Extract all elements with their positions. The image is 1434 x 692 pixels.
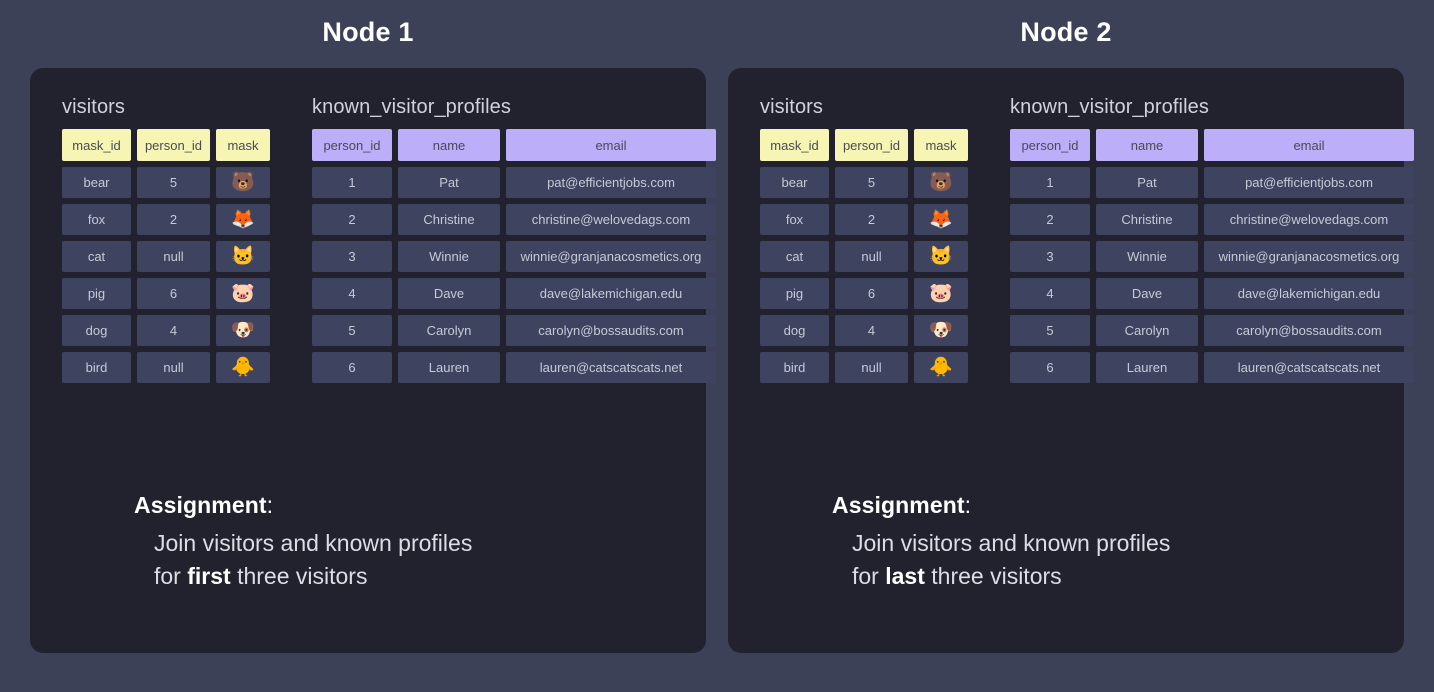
assignment-line2-before: for [154,563,187,589]
cell-email: dave@lakemichigan.edu [506,278,716,309]
cell-person-id: 4 [835,315,908,346]
assignment-line-1: Join visitors and known profiles [852,527,1170,560]
column-header-email: email [1204,129,1414,161]
assignment-line2-before: for [852,563,885,589]
pig-icon: 🐷 [216,278,270,309]
cell-name: Carolyn [1096,315,1198,346]
table-caption: visitors [62,96,270,119]
cell-name: Pat [1096,167,1198,198]
table-row: cat null 🐱 [760,241,968,272]
table-caption: visitors [760,96,968,119]
assignment-line-2: for last three visitors [852,560,1170,593]
table-row: fox 2 🦊 [62,204,270,235]
cell-person-id: 3 [1010,241,1090,272]
profiles-table-block: known_visitor_profiles person_id name em… [1010,96,1414,383]
cell-mask-id: dog [62,315,131,346]
table-caption: known_visitor_profiles [312,96,716,119]
cell-mask-id: bear [62,167,131,198]
cell-email: carolyn@bossaudits.com [1204,315,1414,346]
cell-email: christine@welovedags.com [1204,204,1414,235]
cell-name: Pat [398,167,500,198]
cell-mask-id: fox [760,204,829,235]
table-row: pig 6 🐷 [760,278,968,309]
column-header-person-id: person_id [137,129,210,161]
column-header-name: name [398,129,500,161]
cell-person-id: 6 [312,352,392,383]
cell-person-id: 5 [137,167,210,198]
visitors-table-block: visitors mask_id person_id mask bear 5 🐻 [62,96,270,383]
cell-name: Christine [1096,204,1198,235]
table-row: dog 4 🐶 [760,315,968,346]
cell-person-id: 1 [1010,167,1090,198]
cell-person-id: 2 [835,204,908,235]
table-caption: known_visitor_profiles [1010,96,1414,119]
assignment-line-2: for first three visitors [154,560,472,593]
column-header-mask: mask [914,129,968,161]
cell-email: christine@welovedags.com [506,204,716,235]
cell-name: Dave [398,278,500,309]
assignment-line-1: Join visitors and known profiles [154,527,472,560]
table-row: pig 6 🐷 [62,278,270,309]
cell-email: pat@efficientjobs.com [506,167,716,198]
cell-mask-id: bear [760,167,829,198]
table-header-row: mask_id person_id mask [62,129,270,161]
table-row: 1 Pat pat@efficientjobs.com [312,167,716,198]
cell-mask-id: cat [62,241,131,272]
profiles-table-block: known_visitor_profiles person_id name em… [312,96,716,383]
table-row: 5 Carolyn carolyn@bossaudits.com [1010,315,1414,346]
cell-person-id: 2 [312,204,392,235]
node-title: Node 1 [30,0,706,68]
cell-person-id: 4 [137,315,210,346]
cell-email: lauren@catscatscats.net [506,352,716,383]
cell-mask-id: pig [62,278,131,309]
column-header-email: email [506,129,716,161]
cell-person-id: 6 [835,278,908,309]
cell-person-id: 1 [312,167,392,198]
cell-name: Carolyn [398,315,500,346]
column-header-mask-id: mask_id [760,129,829,161]
cell-name: Winnie [398,241,500,272]
cell-person-id: 6 [137,278,210,309]
cell-person-id: 5 [312,315,392,346]
bird-icon: 🐥 [914,352,968,383]
table-row: bear 5 🐻 [760,167,968,198]
cell-name: Lauren [1096,352,1198,383]
node-column-2: Node 2 visitors mask_id person_id mask b… [728,0,1404,692]
assignment-label-text: Assignment [832,492,965,518]
cell-mask-id: fox [62,204,131,235]
cell-name: Winnie [1096,241,1198,272]
cell-email: dave@lakemichigan.edu [1204,278,1414,309]
assignment-lines: Join visitors and known profiles for fir… [154,527,472,594]
node-panel: visitors mask_id person_id mask bear 5 🐻 [728,68,1404,653]
column-header-person-id: person_id [835,129,908,161]
fox-icon: 🦊 [914,204,968,235]
cell-email: pat@efficientjobs.com [1204,167,1414,198]
cell-mask-id: pig [760,278,829,309]
node-column-1: Node 1 visitors mask_id person_id mask b… [30,0,706,692]
cell-person-id: 6 [1010,352,1090,383]
table-row: 6 Lauren lauren@catscatscats.net [1010,352,1414,383]
assignment-block: Assignment: Join visitors and known prof… [832,492,1170,594]
cell-person-id: 4 [1010,278,1090,309]
cell-mask-id: dog [760,315,829,346]
bird-icon: 🐥 [216,352,270,383]
diagram-stage: Node 1 visitors mask_id person_id mask b… [0,0,1434,692]
bear-icon: 🐻 [216,167,270,198]
cell-person-id: 2 [1010,204,1090,235]
assignment-label: Assignment: [832,492,1170,519]
fox-icon: 🦊 [216,204,270,235]
profiles-grid: person_id name email 1 Pat pat@efficient… [1010,129,1414,383]
visitors-table-block: visitors mask_id person_id mask bear 5 🐻 [760,96,968,383]
column-header-mask-id: mask_id [62,129,131,161]
dog-icon: 🐶 [914,315,968,346]
cell-email: winnie@granjanacosmetics.org [1204,241,1414,272]
cell-mask-id: bird [62,352,131,383]
tables-row: visitors mask_id person_id mask bear 5 🐻 [62,96,690,383]
assignment-emphasis: last [885,563,925,589]
table-header-row: person_id name email [1010,129,1414,161]
dog-icon: 🐶 [216,315,270,346]
assignment-emphasis: first [187,563,230,589]
assignment-label: Assignment: [134,492,472,519]
cat-icon: 🐱 [216,241,270,272]
table-header-row: mask_id person_id mask [760,129,968,161]
column-header-person-id: person_id [312,129,392,161]
cell-name: Dave [1096,278,1198,309]
cell-person-id: 5 [835,167,908,198]
table-row: 4 Dave dave@lakemichigan.edu [1010,278,1414,309]
bear-icon: 🐻 [914,167,968,198]
cell-mask-id: bird [760,352,829,383]
table-row: 6 Lauren lauren@catscatscats.net [312,352,716,383]
cell-person-id: null [137,352,210,383]
assignment-line2-after: three visitors [925,563,1062,589]
cell-name: Christine [398,204,500,235]
cell-person-id: 2 [137,204,210,235]
visitors-grid: mask_id person_id mask bear 5 🐻 fox 2 [760,129,968,383]
cell-person-id: 4 [312,278,392,309]
node-title: Node 2 [728,0,1404,68]
node-panel: visitors mask_id person_id mask bear 5 🐻 [30,68,706,653]
cell-mask-id: cat [760,241,829,272]
table-row: cat null 🐱 [62,241,270,272]
table-row: 3 Winnie winnie@granjanacosmetics.org [1010,241,1414,272]
table-row: bear 5 🐻 [62,167,270,198]
column-header-person-id: person_id [1010,129,1090,161]
cell-person-id: 3 [312,241,392,272]
pig-icon: 🐷 [914,278,968,309]
column-header-name: name [1096,129,1198,161]
table-row: dog 4 🐶 [62,315,270,346]
cell-email: winnie@granjanacosmetics.org [506,241,716,272]
cell-email: carolyn@bossaudits.com [506,315,716,346]
table-row: 1 Pat pat@efficientjobs.com [1010,167,1414,198]
table-row: fox 2 🦊 [760,204,968,235]
assignment-colon: : [267,492,274,518]
cat-icon: 🐱 [914,241,968,272]
profiles-grid: person_id name email 1 Pat pat@efficient… [312,129,716,383]
cell-person-id: null [835,241,908,272]
table-row: 2 Christine christine@welovedags.com [312,204,716,235]
assignment-label-text: Assignment [134,492,267,518]
visitors-grid: mask_id person_id mask bear 5 🐻 fox 2 [62,129,270,383]
table-row: bird null 🐥 [760,352,968,383]
cell-email: lauren@catscatscats.net [1204,352,1414,383]
assignment-block: Assignment: Join visitors and known prof… [134,492,472,594]
column-header-mask: mask [216,129,270,161]
tables-row: visitors mask_id person_id mask bear 5 🐻 [760,96,1388,383]
cell-person-id: null [137,241,210,272]
assignment-line2-after: three visitors [231,563,368,589]
table-row: 2 Christine christine@welovedags.com [1010,204,1414,235]
cell-name: Lauren [398,352,500,383]
table-row: 5 Carolyn carolyn@bossaudits.com [312,315,716,346]
table-row: 4 Dave dave@lakemichigan.edu [312,278,716,309]
table-row: 3 Winnie winnie@granjanacosmetics.org [312,241,716,272]
table-header-row: person_id name email [312,129,716,161]
cell-person-id: 5 [1010,315,1090,346]
table-row: bird null 🐥 [62,352,270,383]
cell-person-id: null [835,352,908,383]
assignment-colon: : [965,492,972,518]
assignment-lines: Join visitors and known profiles for las… [852,527,1170,594]
